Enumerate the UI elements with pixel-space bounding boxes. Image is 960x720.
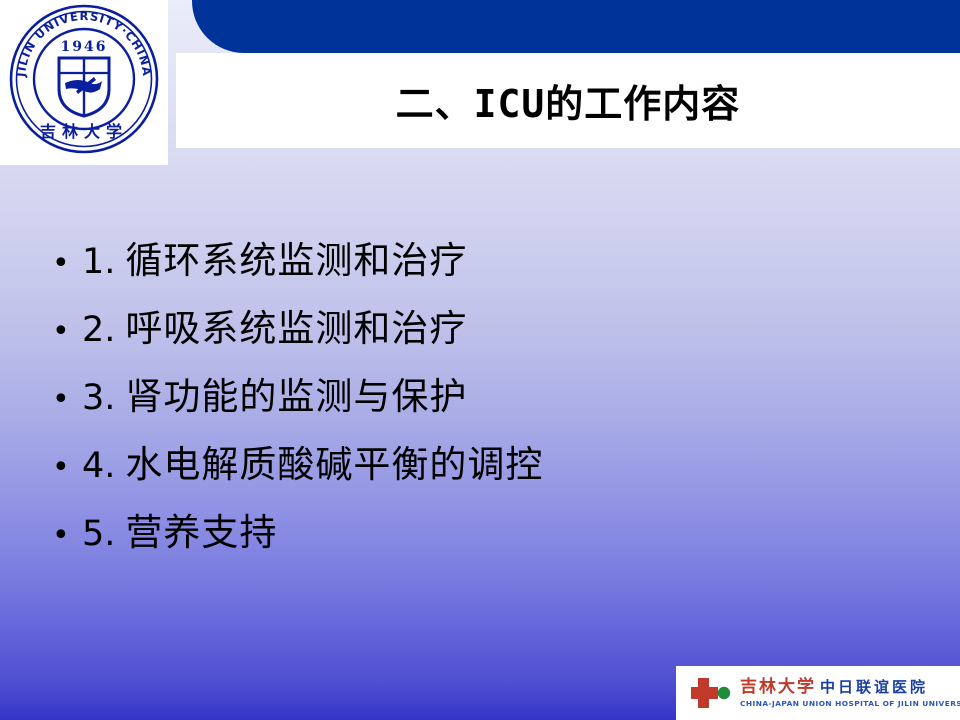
svg-text:1946: 1946 bbox=[61, 39, 108, 55]
bullet-dot-icon: • bbox=[52, 521, 82, 551]
bullet-dot-icon: • bbox=[52, 453, 82, 483]
bullet-number: 2. bbox=[82, 313, 115, 348]
bullet-dot-icon: • bbox=[52, 385, 82, 415]
svg-text:吉林大学: 吉林大学 bbox=[40, 122, 128, 141]
bullet-dot-icon: • bbox=[52, 317, 82, 347]
hospital-name-cn-blue: 中日联谊医院 bbox=[820, 680, 928, 695]
bullet-text: 肾功能的监测与保护 bbox=[125, 378, 467, 415]
bullet-number: 4. bbox=[82, 449, 115, 484]
bullet-text: 呼吸系统监测和治疗 bbox=[125, 310, 467, 347]
jilin-university-seal-icon: JILIN UNIVERSITY·CHINA 1946 吉林大学 bbox=[8, 3, 160, 155]
bullet-text: 水电解质酸碱平衡的调控 bbox=[125, 446, 543, 483]
university-seal-container: JILIN UNIVERSITY·CHINA 1946 吉林大学 bbox=[0, 0, 168, 165]
bullet-number: 5. bbox=[82, 517, 115, 552]
bullet-text: 循环系统监测和治疗 bbox=[125, 242, 467, 279]
bullet-dot-icon: • bbox=[52, 249, 82, 279]
list-item: • 2. 呼吸系统监测和治疗 bbox=[52, 310, 902, 378]
hospital-cross-icon bbox=[690, 676, 732, 710]
list-item: • 1. 循环系统监测和治疗 bbox=[52, 242, 902, 310]
bullet-list: • 1. 循环系统监测和治疗 • 2. 呼吸系统监测和治疗 • 3. 肾功能的监… bbox=[52, 242, 902, 582]
bullet-text: 营养支持 bbox=[125, 514, 277, 551]
header-blue-band bbox=[192, 0, 960, 53]
hospital-name-cn-red: 吉林大学 bbox=[740, 679, 816, 696]
slide-title: 二、ICU的工作内容 bbox=[176, 53, 960, 148]
bullet-number: 1. bbox=[82, 245, 115, 280]
list-item: • 5. 营养支持 bbox=[52, 514, 902, 582]
bullet-number: 3. bbox=[82, 381, 115, 416]
presentation-slide: 二、ICU的工作内容 JILIN UNIVERSITY·CHINA 1946 bbox=[0, 0, 960, 720]
hospital-name-en: CHINA-JAPAN UNION HOSPITAL OF JILIN UNIV… bbox=[740, 699, 960, 708]
hospital-logo-container: 吉林大学 中日联谊医院 CHINA-JAPAN UNION HOSPITAL O… bbox=[676, 666, 960, 720]
list-item: • 3. 肾功能的监测与保护 bbox=[52, 378, 902, 446]
list-item: • 4. 水电解质酸碱平衡的调控 bbox=[52, 446, 902, 514]
